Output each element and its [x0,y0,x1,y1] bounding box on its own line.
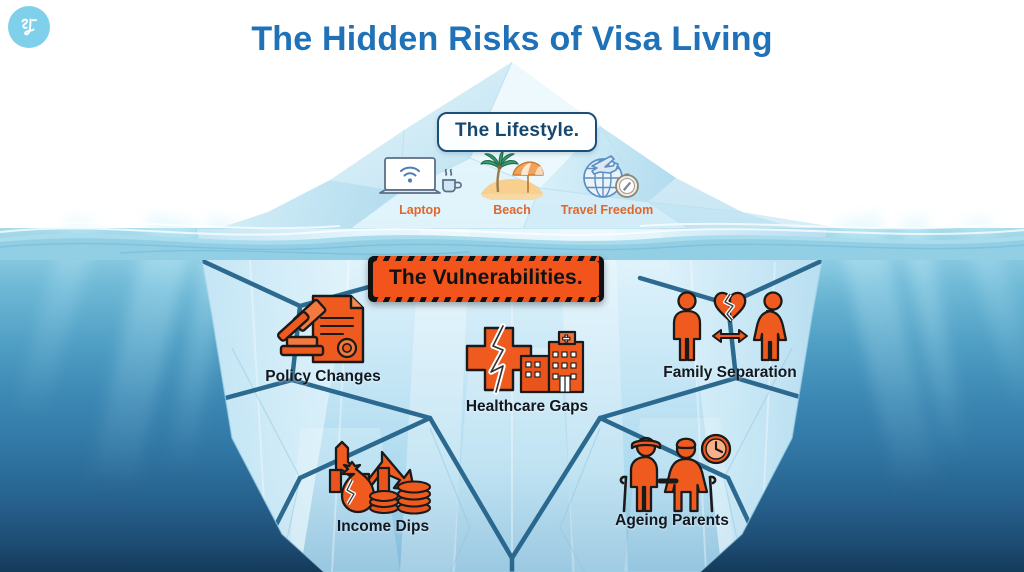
hazard-stripe-top-icon [373,256,599,261]
lifestyle-badge: The Lifestyle. [437,112,597,152]
vulnerability-policy-changes[interactable]: Policy Changes [228,292,418,386]
vulnerability-ageing-parents[interactable]: Ageing Parents [572,436,772,530]
above-water-items: Laptop [0,150,1024,230]
above-item-beach[interactable]: Beach [466,150,558,217]
page-title: The Hidden Risks of Visa Living [0,20,1024,59]
vulnerability-family-separation[interactable]: Family Separation [630,288,830,382]
gavel-document-icon [228,292,418,366]
vulnerability-healthcare-gaps-label: Healthcare Gaps [432,398,622,416]
vulnerability-income-dips-label: Income Dips [288,518,478,536]
falling-arrow-money-bag-icon [288,442,478,516]
vulnerability-family-separation-label: Family Separation [630,364,830,382]
infographic-canvas: The Hidden Risks of Visa Living The Life… [0,0,1024,572]
hazard-stripe-bottom-icon [373,297,599,302]
brand-logo[interactable] [8,6,50,48]
palm-umbrella-beach-icon [466,150,558,200]
globe-plane-compass-icon [552,150,662,200]
page-title-text: The Hidden Risks of Visa Living [251,20,772,58]
elderly-couple-clock-icon [572,436,772,510]
cracked-cross-hospital-icon [432,322,622,396]
script-g-logo-icon [16,14,42,40]
vulnerabilities-badge: The Vulnerabilities. [368,256,604,302]
laptop-wifi-coffee-icon [368,150,472,200]
vulnerability-policy-changes-label: Policy Changes [228,368,418,386]
above-item-laptop[interactable]: Laptop [368,150,472,217]
vulnerabilities-badge-label: The Vulnerabilities. [389,266,583,289]
vulnerability-ageing-parents-label: Ageing Parents [572,512,772,530]
vulnerabilities-badge-inner: The Vulnerabilities. [373,261,599,297]
lifestyle-badge-label: The Lifestyle. [455,120,579,141]
broken-heart-couple-icon [630,288,830,362]
above-item-laptop-label: Laptop [368,203,472,217]
above-item-travel-freedom-label: Travel Freedom [552,203,662,217]
vulnerability-income-dips[interactable]: Income Dips [288,442,478,536]
above-item-travel-freedom[interactable]: Travel Freedom [552,150,662,217]
vulnerability-healthcare-gaps[interactable]: Healthcare Gaps [432,322,622,416]
above-item-beach-label: Beach [466,203,558,217]
